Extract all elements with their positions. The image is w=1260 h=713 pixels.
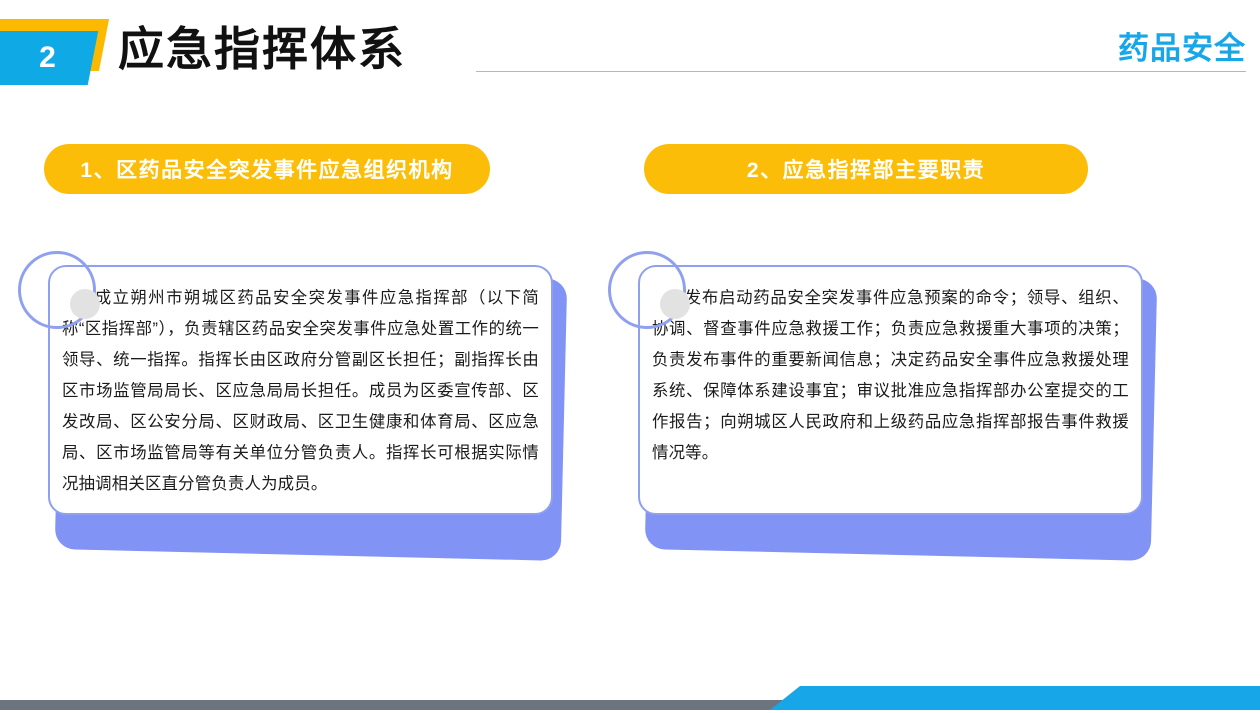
card-body-text-1: 成立朔州市朔城区药品安全突发事件应急指挥部（以下简称“区指挥部”），负责辖区药品…: [62, 283, 539, 500]
dot-decoration-icon-1: [70, 289, 100, 319]
content-card-group-2: 发布启动药品安全突发事件应急预案的命令；领导、组织、协调、督查事件应急救援工作；…: [608, 245, 1168, 545]
dot-decoration-icon-2: [660, 289, 690, 319]
content-card-1: 成立朔州市朔城区药品安全突发事件应急指挥部（以下简称“区指挥部”），负责辖区药品…: [48, 265, 553, 515]
page-title: 应急指挥体系: [118, 18, 406, 80]
content-card-2: 发布启动药品安全突发事件应急预案的命令；领导、组织、协调、督查事件应急救援工作；…: [638, 265, 1143, 515]
header-divider-line: [476, 71, 1246, 72]
section-heading-pill-1: 1、区药品安全突发事件应急组织机构: [44, 144, 490, 194]
card-body-text-2: 发布启动药品安全突发事件应急预案的命令；领导、组织、协调、督查事件应急救援工作；…: [652, 283, 1129, 469]
footer-grey-bar: [0, 700, 810, 710]
slide-canvas: 2 应急指挥体系 药品安全 1、区药品安全突发事件应急组织机构 2、应急指挥部主…: [0, 0, 1260, 713]
footer-blue-shape: [770, 686, 1260, 710]
section-number: 2: [0, 31, 96, 85]
brand-label: 药品安全: [1118, 23, 1246, 68]
section-heading-pill-2: 2、应急指挥部主要职责: [644, 144, 1088, 194]
content-card-group-1: 成立朔州市朔城区药品安全突发事件应急指挥部（以下简称“区指挥部”），负责辖区药品…: [18, 245, 578, 545]
